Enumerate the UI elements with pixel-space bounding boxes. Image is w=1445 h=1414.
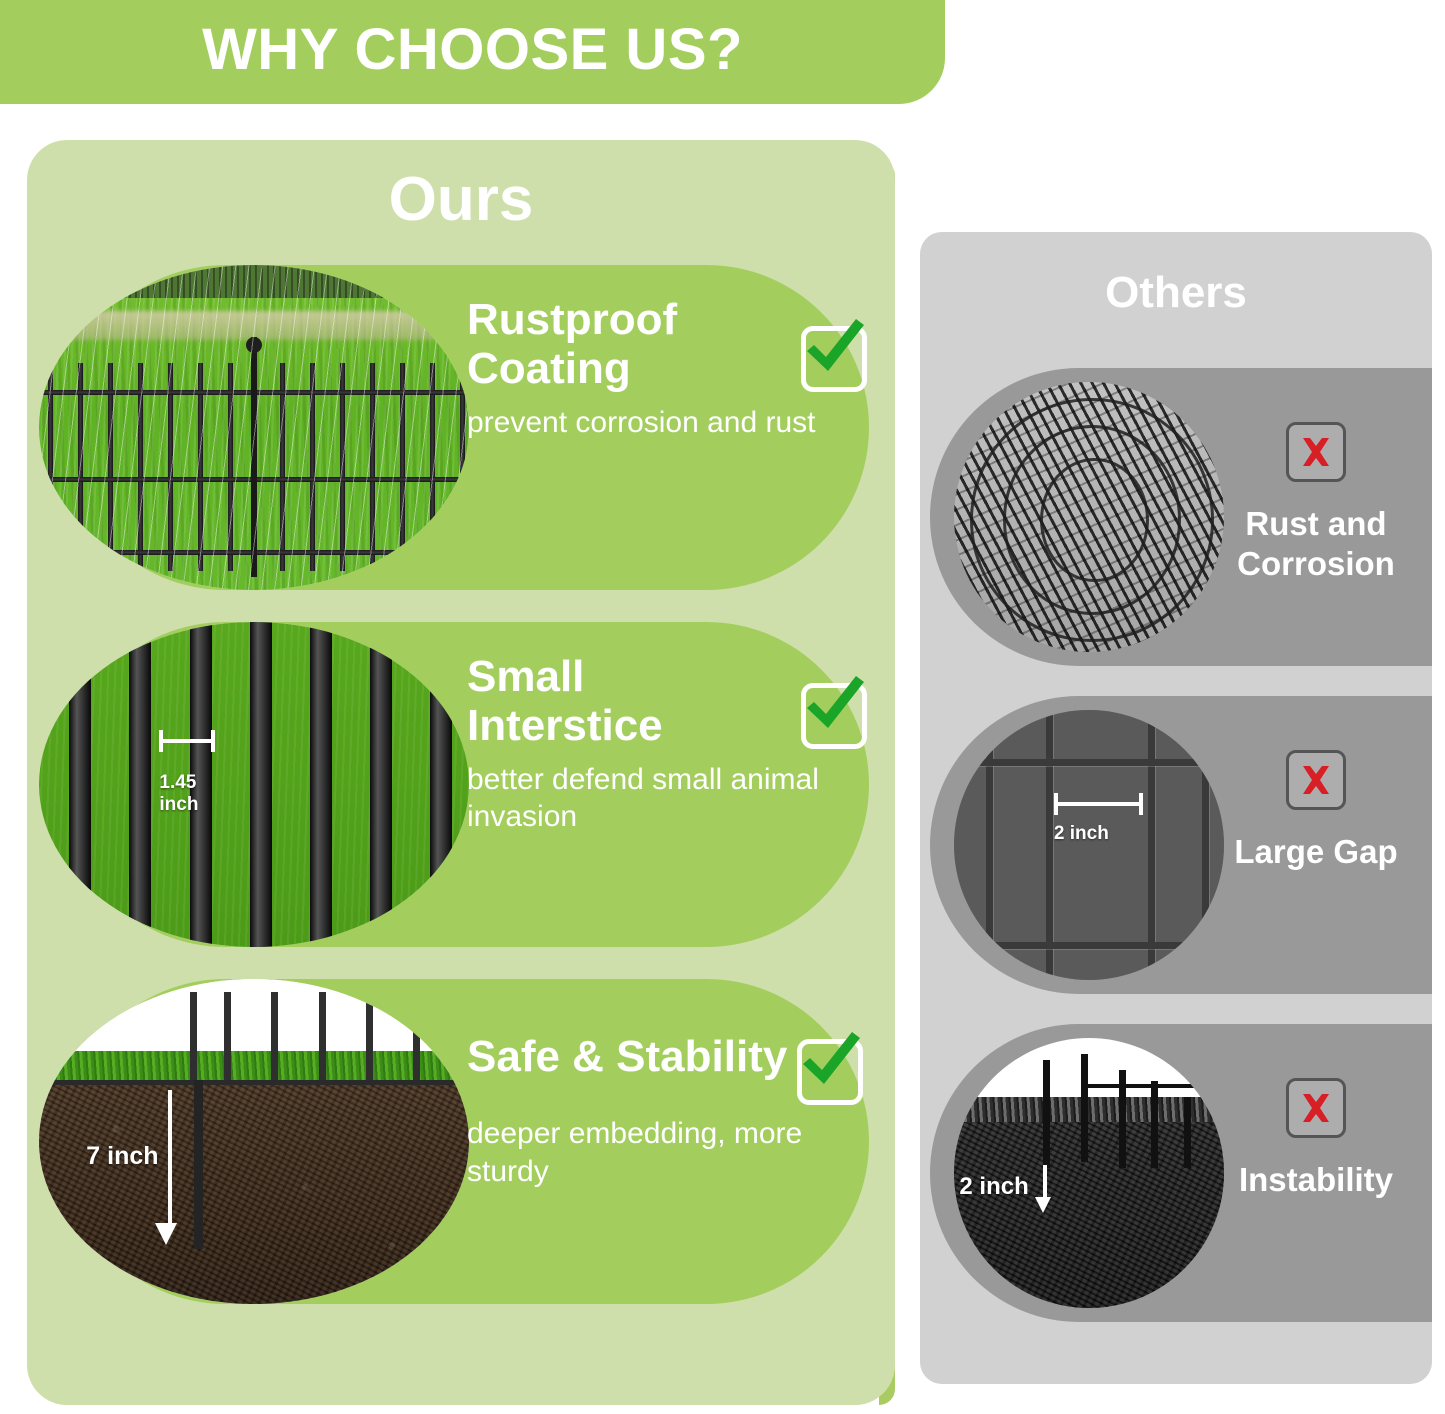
depth-arrow-head — [155, 1223, 177, 1245]
mesh-vertical-bar — [1046, 710, 1053, 980]
others-row-instability: 2 inch Instability — [920, 1024, 1432, 1322]
others-row-list: Rust and Corrosion 2 inch — [920, 368, 1432, 1352]
grey-mesh-illustration: 2 inch — [954, 710, 1224, 980]
mesh-horizontal-bar — [954, 759, 1224, 766]
page-title: WHY CHOOSE US? — [202, 16, 743, 83]
fence-bar — [250, 622, 272, 947]
gap-measure-bracket — [1054, 802, 1143, 806]
ours-row-heading-line: Safe & Stability — [467, 1009, 867, 1105]
fence-bar-spacing-photo: 1.45 inch — [39, 622, 469, 947]
header-banner: WHY CHOOSE US? — [0, 0, 945, 104]
ours-row-caption-group: Rustproof Coating prevent corrosion and … — [467, 295, 867, 441]
others-card: Others Rust and Corrosion — [920, 232, 1432, 1384]
ours-row-title: Small Interstice — [467, 652, 801, 751]
ours-row-subtitle: deeper embedding, more sturdy — [467, 1115, 827, 1190]
fence-stake — [366, 999, 373, 1084]
others-row-caption-group: Large Gap — [1216, 750, 1416, 872]
interstice-measure-bracket — [159, 739, 215, 743]
ours-row-title: Safe & Stability — [467, 1032, 797, 1081]
rain-overlay — [39, 265, 469, 590]
others-row-large-gap: 2 inch Large Gap — [920, 696, 1432, 994]
fence-bar — [310, 622, 332, 947]
fence-stake — [224, 992, 231, 1083]
fence-bar — [370, 622, 392, 947]
ours-title: Ours — [27, 164, 895, 235]
mesh-vertical-bar — [986, 710, 993, 980]
mesh-vertical-bar — [1148, 710, 1155, 980]
fence-bar — [129, 622, 151, 947]
ours-row-small-interstice: 1.45 inch Small Interstice better defend… — [27, 622, 895, 947]
x-icon — [1286, 1078, 1346, 1138]
check-icon — [797, 1039, 863, 1105]
shallow-embedding-illustration: 2 inch — [954, 1038, 1224, 1308]
x-icon — [1286, 750, 1346, 810]
shallow-embedding-photo: 2 inch — [954, 1038, 1224, 1308]
soil-embedding-illustration: 7 inch — [39, 979, 469, 1304]
ours-row-subtitle: better defend small animal invasion — [467, 761, 827, 836]
ours-card: Ours — [27, 140, 895, 1405]
others-row-caption-group: Instability — [1216, 1078, 1416, 1200]
rainy-fence-photo — [39, 265, 469, 590]
mesh-vertical-bar — [1202, 710, 1209, 980]
ours-row-title: Rustproof Coating — [467, 295, 801, 394]
others-row-label: Rust and Corrosion — [1216, 504, 1416, 585]
depth-measure-label: 7 inch — [86, 1142, 158, 1171]
depth-arrow-shaft — [1043, 1165, 1047, 1200]
fence-bar — [69, 622, 91, 947]
bar-spacing-illustration: 1.45 inch — [39, 622, 469, 947]
check-icon — [801, 683, 867, 749]
others-row-label: Large Gap — [1216, 832, 1416, 872]
fence-stake — [1184, 1097, 1191, 1167]
fence-stake — [319, 992, 326, 1083]
ground-anchor-spike — [194, 1080, 203, 1249]
rusty-wire-coil-photo — [954, 382, 1224, 652]
large-gap-mesh-photo: 2 inch — [954, 710, 1224, 980]
others-row-rust-and-corrosion: Rust and Corrosion — [920, 368, 1432, 666]
ours-row-heading-line: Rustproof Coating — [467, 295, 867, 394]
ours-row-list: Rustproof Coating prevent corrosion and … — [27, 265, 895, 1336]
depth-measure-label: 2 inch — [959, 1173, 1028, 1201]
x-icon — [1286, 422, 1346, 482]
depth-arrow-head — [1035, 1197, 1051, 1213]
others-title: Others — [920, 268, 1432, 318]
depth-arrow-shaft — [168, 1090, 172, 1227]
fence-stake — [1043, 1060, 1050, 1168]
others-row-label: Instability — [1216, 1160, 1416, 1200]
ours-row-safe-and-stability: 7 inch Safe & Stability deeper embedding… — [27, 979, 895, 1304]
ours-row-caption-group: Safe & Stability deeper embedding, more … — [467, 1009, 867, 1190]
fence-rail — [1084, 1084, 1224, 1088]
soil-area — [39, 1080, 469, 1304]
ours-row-rustproof-coating: Rustproof Coating prevent corrosion and … — [27, 265, 895, 590]
fence-stake — [1081, 1054, 1088, 1162]
check-icon — [801, 326, 867, 392]
coil-ring-inner — [1040, 458, 1149, 583]
fence-bottom-rail — [39, 1080, 469, 1085]
fence-bar — [430, 622, 452, 947]
ours-row-heading-line: Small Interstice — [467, 652, 867, 751]
fence-stake — [271, 992, 278, 1083]
soil-embedding-depth-photo: 7 inch — [39, 979, 469, 1304]
mesh-horizontal-bar — [954, 942, 1224, 949]
ours-row-caption-group: Small Interstice better defend small ani… — [467, 652, 867, 836]
fence-stake — [1151, 1081, 1158, 1167]
fence-stake — [190, 992, 197, 1083]
gap-measure-label: 2 inch — [1054, 823, 1109, 845]
interstice-measure-label: 1.45 inch — [159, 772, 219, 817]
fence-stake — [413, 1025, 420, 1084]
ours-row-subtitle: prevent corrosion and rust — [467, 404, 827, 442]
rainy-fence-illustration — [39, 265, 469, 590]
others-row-caption-group: Rust and Corrosion — [1216, 422, 1416, 585]
wire-coil-illustration — [954, 382, 1224, 652]
turf-line — [39, 1051, 469, 1080]
